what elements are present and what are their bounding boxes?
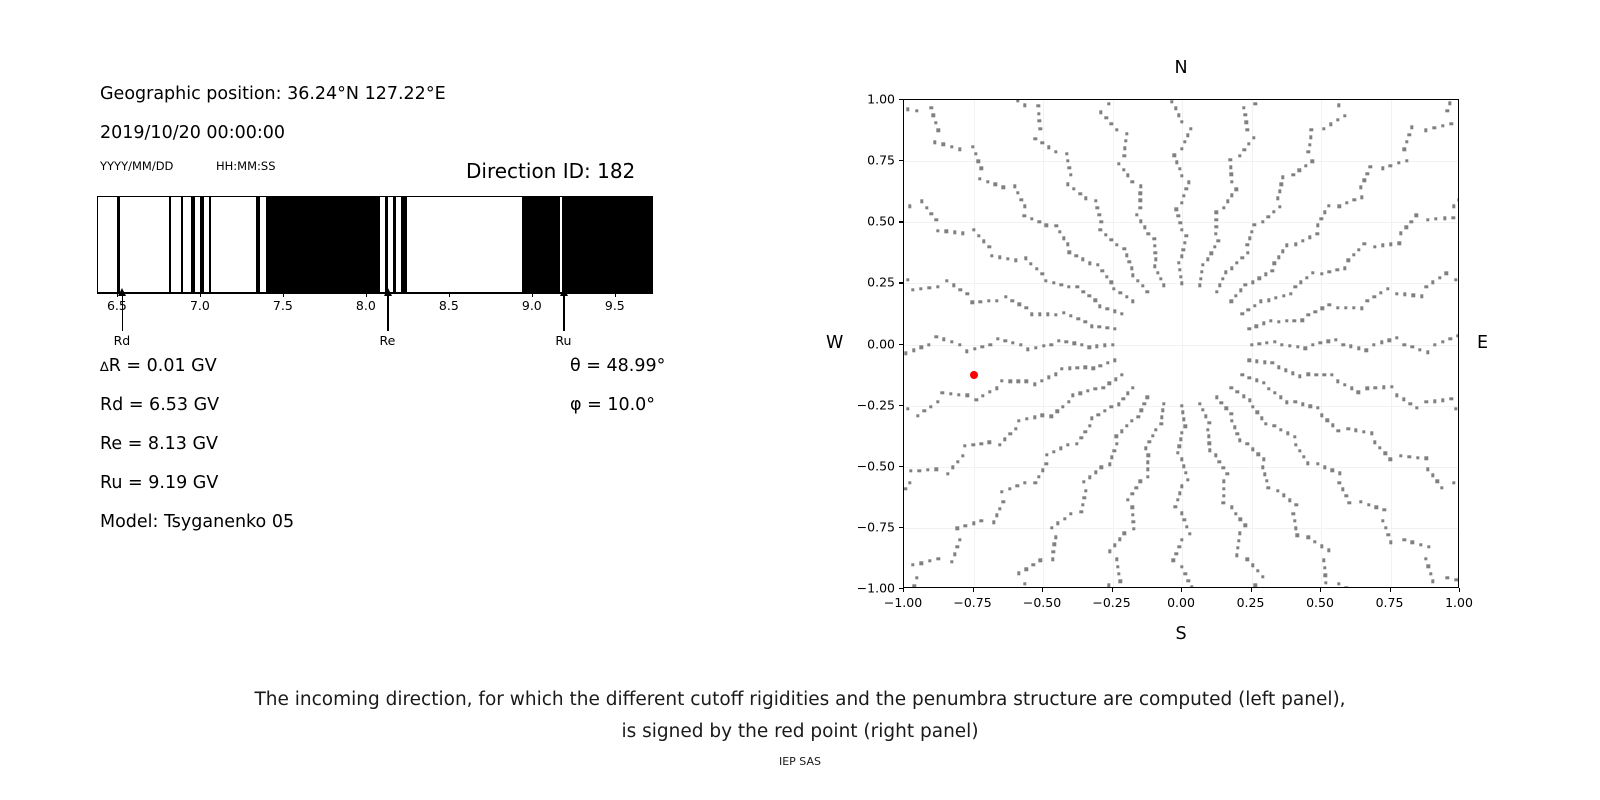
sky-direction-dot — [1298, 169, 1301, 172]
sky-direction-dot — [1209, 251, 1212, 254]
sky-direction-dot — [1046, 313, 1049, 316]
sky-direction-dot — [1033, 383, 1036, 386]
sky-direction-dot — [1246, 243, 1249, 246]
sky-direction-dot — [956, 460, 959, 463]
sky-direction-dot — [1053, 543, 1056, 546]
sky-direction-dot — [1397, 161, 1400, 164]
sky-direction-dot — [1298, 375, 1301, 378]
sky-direction-dot — [1110, 281, 1113, 284]
sky-direction-dot — [1131, 520, 1134, 523]
sky-direction-dot — [1208, 421, 1211, 424]
sky-direction-dot — [1314, 310, 1317, 313]
sky-direction-dot — [982, 239, 985, 242]
sky-direction-dot — [1153, 244, 1156, 247]
sky-direction-dot — [978, 177, 981, 180]
sky-direction-dot — [1240, 373, 1243, 376]
sky-direction-dot — [1271, 361, 1274, 364]
sky-direction-dot — [1030, 312, 1033, 315]
sky-direction-dot — [1433, 399, 1436, 402]
sky-direction-dot — [1016, 484, 1019, 487]
penumbra-axis-tick-label: 6.5 — [107, 298, 127, 313]
sky-direction-dot — [1310, 128, 1313, 131]
sky-direction-dot — [1131, 386, 1134, 389]
sky-direction-dot — [1252, 223, 1255, 226]
sky-direction-dot — [1142, 402, 1145, 405]
sky-direction-dot — [1016, 99, 1019, 102]
sky-direction-dot — [1370, 431, 1373, 434]
sky-direction-dot — [1218, 284, 1221, 287]
sky-direction-dot — [1411, 541, 1414, 544]
sky-direction-dot — [1299, 281, 1302, 284]
sky-direction-dot — [1399, 232, 1402, 235]
sky-direction-dot — [1065, 152, 1068, 155]
sky-direction-dot — [1162, 284, 1165, 287]
sky-direction-dot — [1304, 347, 1307, 350]
sky-direction-dot — [1065, 340, 1068, 343]
sky-direction-dot — [1175, 552, 1178, 555]
sky-direction-dot — [1094, 199, 1097, 202]
sky-direction-dot — [1267, 486, 1270, 489]
sky-direction-dot — [977, 159, 980, 162]
sky-direction-dot — [1052, 550, 1055, 553]
sky-direction-dot — [952, 284, 955, 287]
sky-direction-dot — [980, 442, 983, 445]
sky-direction-dot — [1450, 397, 1453, 400]
sky-direction-dot — [1311, 271, 1314, 274]
sky-direction-dot — [1315, 232, 1318, 235]
sky-direction-dot — [1426, 467, 1429, 470]
sky-direction-dot — [1025, 567, 1028, 570]
sky-direction-dot — [1110, 122, 1113, 125]
penumbra-forbidden-band — [209, 197, 211, 292]
sky-direction-dot — [1115, 435, 1118, 438]
sky-direction-dot — [1381, 166, 1384, 169]
sky-direction-dot — [1328, 270, 1331, 273]
sky-direction-dot — [1254, 102, 1257, 105]
sky-direction-dot — [1201, 263, 1204, 266]
sky-direction-dot — [1057, 339, 1060, 342]
sky-direction-dot — [1069, 512, 1072, 515]
sky-direction-dot — [1004, 339, 1007, 342]
sky-direction-dot — [1090, 325, 1093, 328]
sky-direction-dot — [936, 285, 939, 288]
cutoff-marker-label: Ru — [555, 333, 571, 348]
sky-direction-dot — [1058, 230, 1061, 233]
sky-direction-dot — [1343, 267, 1346, 270]
sky-direction-dot — [1295, 534, 1298, 537]
sky-direction-dot — [1113, 544, 1116, 547]
sky-direction-dot — [1346, 427, 1349, 430]
sky-direction-dot — [1277, 320, 1280, 323]
sky-direction-dot — [1389, 540, 1392, 543]
sky-direction-dot — [1389, 164, 1392, 167]
sky-direction-dot — [1062, 236, 1065, 239]
sky-direction-dot — [995, 514, 998, 517]
sky-direction-dot — [1387, 533, 1390, 536]
sky-direction-dot — [1342, 343, 1345, 346]
sky-direction-dot — [1119, 291, 1122, 294]
sky-direction-dot — [1206, 258, 1209, 261]
sky-direction-dot — [1280, 183, 1283, 186]
sky-direction-dot — [1262, 458, 1265, 461]
penumbra-forbidden-band — [191, 197, 195, 292]
arrow-up-icon — [118, 288, 126, 296]
sky-direction-dot — [1331, 424, 1334, 427]
sky-xaxis-tick-label: −0.50 — [1023, 595, 1061, 610]
sky-direction-dot — [1264, 273, 1267, 276]
sky-direction-dot — [1246, 251, 1249, 254]
sky-direction-dot — [1408, 455, 1411, 458]
sky-direction-dot — [1054, 150, 1057, 153]
sky-direction-dot — [1357, 390, 1360, 393]
result-model: Model: Tsyganenko 05 — [100, 512, 294, 532]
sky-direction-dot — [1041, 272, 1044, 275]
sky-yaxis-tick — [899, 466, 903, 467]
sky-direction-dot — [1001, 500, 1004, 503]
sky-direction-dot — [1282, 294, 1285, 297]
sky-direction-dot — [1408, 133, 1411, 136]
sky-direction-dot — [1179, 275, 1182, 278]
sky-yaxis-tick-label: 1.00 — [843, 92, 895, 107]
sky-direction-dot — [1136, 279, 1139, 282]
sky-direction-dot — [1186, 478, 1189, 481]
sky-direction-dot — [934, 121, 937, 124]
sky-direction-dot — [1127, 260, 1130, 263]
sky-direction-dot — [1221, 277, 1224, 280]
sky-direction-dot — [973, 347, 976, 350]
sky-direction-dot — [1131, 506, 1134, 509]
sky-direction-dot — [1055, 410, 1058, 413]
sky-direction-dot — [920, 346, 923, 349]
sky-direction-dot — [1110, 238, 1113, 241]
sky-direction-dot — [958, 147, 961, 150]
sky-direction-dot — [1120, 312, 1123, 315]
sky-direction-dot — [928, 559, 931, 562]
sky-direction-dot — [1222, 480, 1225, 483]
sky-direction-dot — [1113, 327, 1116, 330]
sky-direction-dot — [1291, 371, 1294, 374]
sky-direction-dot — [1084, 320, 1087, 323]
sky-direction-dot — [1146, 468, 1149, 471]
sky-xaxis-tick — [973, 588, 974, 592]
penumbra-forbidden-band — [169, 197, 171, 292]
sky-direction-dot — [1122, 168, 1125, 171]
sky-direction-dot — [1218, 460, 1221, 463]
result-rd: Rd = 6.53 GV — [100, 395, 219, 415]
left-panel: Geographic position: 36.24°N 127.22°E 20… — [0, 0, 780, 660]
sky-direction-dot — [1143, 226, 1146, 229]
sky-direction-dot — [1062, 311, 1065, 314]
sky-direction-dot — [1180, 255, 1183, 258]
sky-yaxis-tick — [899, 527, 903, 528]
sky-direction-dot — [1255, 324, 1258, 327]
sky-direction-dot — [1431, 281, 1434, 284]
sky-direction-dot — [932, 113, 935, 116]
sky-direction-dot — [965, 292, 968, 295]
sky-direction-dot — [1419, 543, 1422, 546]
sky-direction-dot — [1137, 415, 1140, 418]
sky-direction-dot — [1330, 469, 1333, 472]
sky-direction-dot — [1279, 396, 1282, 399]
sky-direction-dot — [1267, 387, 1270, 390]
sky-direction-dot — [1204, 415, 1207, 418]
sky-direction-dot — [1307, 313, 1310, 316]
sky-direction-dot — [1367, 503, 1370, 506]
sky-direction-dot — [1179, 221, 1182, 224]
sky-xaxis-tick-label: 0.25 — [1237, 595, 1265, 610]
penumbra-axis-tick-label: 7.5 — [273, 298, 293, 313]
sky-direction-dot — [1038, 119, 1041, 122]
sky-direction-dot — [980, 166, 983, 169]
sky-direction-dot — [1182, 194, 1185, 197]
sky-direction-dot — [1173, 154, 1176, 157]
sky-direction-dot — [1353, 198, 1356, 201]
sky-direction-dot — [1441, 398, 1444, 401]
sky-direction-dot — [1017, 572, 1020, 575]
sky-direction-dot — [1276, 197, 1279, 200]
sky-direction-dot — [1180, 485, 1183, 488]
sky-direction-dot — [1068, 367, 1071, 370]
sky-direction-dot — [1451, 216, 1454, 219]
sky-direction-dot — [1274, 296, 1277, 299]
sky-direction-dot — [1244, 283, 1247, 286]
penumbra-forbidden-band — [117, 197, 120, 292]
sky-direction-dot — [1086, 389, 1089, 392]
sky-direction-dot — [1108, 382, 1111, 385]
sky-direction-dot — [1261, 220, 1264, 223]
sky-direction-dot — [1323, 566, 1326, 569]
sky-direction-dot — [1131, 513, 1134, 516]
sky-direction-dot — [1326, 340, 1329, 343]
sky-direction-dot — [1243, 524, 1246, 527]
sky-direction-dot — [1293, 319, 1296, 322]
penumbra-axis-tick-label: 9.0 — [522, 298, 542, 313]
sky-direction-dot — [1050, 343, 1053, 346]
sky-direction-dot — [1153, 265, 1156, 268]
result-re: Re = 8.13 GV — [100, 434, 218, 454]
sky-direction-dot — [1248, 376, 1251, 379]
sky-direction-dot — [936, 229, 939, 232]
sky-direction-dot — [1126, 174, 1129, 177]
sky-direction-dot — [1449, 337, 1452, 340]
penumbra-axis-tick-label: 8.0 — [356, 298, 376, 313]
sky-direction-dot — [1314, 373, 1317, 376]
sky-direction-dot — [935, 218, 938, 221]
sky-direction-dot — [1215, 211, 1218, 214]
sky-direction-dot — [1183, 572, 1186, 575]
sky-direction-dot — [1243, 148, 1246, 151]
sky-direction-dot — [1189, 127, 1192, 130]
sky-direction-dot — [1178, 268, 1181, 271]
sky-direction-dot — [1177, 261, 1180, 264]
sky-direction-dot — [1105, 326, 1108, 329]
sky-direction-dot — [1111, 343, 1114, 346]
sky-direction-dot — [1088, 262, 1091, 265]
result-phi: φ = 10.0° — [570, 395, 655, 415]
sky-direction-dot — [937, 557, 940, 560]
sky-direction-dot — [977, 234, 980, 237]
sky-direction-dot — [1180, 174, 1183, 177]
sky-direction-dot — [1307, 150, 1310, 153]
sky-direction-dot — [1254, 584, 1257, 587]
sky-direction-dot — [918, 469, 921, 472]
sky-direction-dot — [1360, 196, 1363, 199]
sky-direction-dot — [1067, 285, 1070, 288]
sky-direction-dot — [1051, 558, 1054, 561]
sky-direction-dot — [1207, 435, 1210, 438]
sky-direction-dot — [965, 393, 968, 396]
sky-direction-dot — [1264, 422, 1267, 425]
sky-direction-dot — [919, 287, 922, 290]
sky-direction-dot — [988, 441, 991, 444]
sky-direction-dot — [1113, 449, 1116, 452]
delta-r-value: R = 0.01 GV — [109, 356, 217, 376]
sky-direction-dot — [1178, 444, 1181, 447]
sky-direction-dot — [1180, 282, 1183, 285]
sky-direction-dot — [1338, 204, 1341, 207]
sky-direction-dot — [1281, 250, 1284, 253]
sky-direction-dot — [1061, 405, 1064, 408]
sky-direction-dot — [1120, 373, 1123, 376]
sky-direction-dot — [1288, 344, 1291, 347]
sky-direction-dot — [1324, 581, 1327, 584]
sky-direction-dot — [1117, 162, 1120, 165]
sky-direction-dot — [1215, 218, 1218, 221]
sky-direction-dot — [1238, 532, 1241, 535]
sky-direction-dot — [1130, 492, 1133, 495]
penumbra-figure — [97, 196, 653, 293]
sky-direction-dot — [1426, 218, 1429, 221]
sky-yaxis-tick — [899, 221, 903, 222]
sky-direction-dot — [906, 278, 909, 281]
sky-direction-dot — [1233, 426, 1236, 429]
penumbra-axis-tick-label: 9.5 — [605, 298, 625, 313]
sky-direction-dot — [1079, 510, 1082, 513]
sky-direction-dot — [1023, 204, 1026, 207]
sky-direction-dot — [1146, 290, 1149, 293]
sky-direction-dot — [1372, 295, 1375, 298]
sky-xaxis-tick — [1112, 588, 1113, 592]
sky-direction-dot — [1278, 190, 1281, 193]
sky-direction-dot — [1214, 454, 1217, 457]
sky-direction-dot — [906, 107, 909, 110]
sky-direction-dot — [1382, 386, 1385, 389]
sky-direction-dot — [1245, 121, 1248, 124]
sky-xaxis-tick — [1042, 588, 1043, 592]
sky-direction-dot — [1284, 368, 1287, 371]
sky-direction-dot — [1019, 198, 1022, 201]
sky-direction-dot — [1068, 166, 1071, 169]
sky-direction-dot — [1412, 293, 1415, 296]
sky-direction-dot — [1180, 147, 1183, 150]
sky-direction-dot — [1023, 481, 1026, 484]
sky-direction-dot — [1038, 313, 1041, 316]
sky-direction-dot — [1098, 213, 1101, 216]
sky-direction-dot — [949, 392, 952, 395]
sky-direction-dot — [1291, 173, 1294, 176]
sky-direction-dot — [1090, 417, 1093, 420]
sky-direction-dot — [936, 400, 939, 403]
sky-direction-dot — [988, 343, 991, 346]
sky-direction-dot — [961, 232, 964, 235]
sky-direction-dot — [929, 405, 932, 408]
sky-direction-dot — [1402, 147, 1405, 150]
sky-direction-dot — [1360, 306, 1363, 309]
sky-direction-dot — [1301, 402, 1304, 405]
sky-direction-dot — [1097, 413, 1100, 416]
sky-direction-dot — [1454, 578, 1457, 581]
sky-direction-dot — [1319, 341, 1322, 344]
sky-direction-dot — [1025, 380, 1028, 383]
sky-direction-dot — [1436, 480, 1439, 483]
sky-direction-dot — [1052, 450, 1055, 453]
sky-direction-dot — [1185, 187, 1188, 190]
sky-direction-dot — [1088, 346, 1091, 349]
sky-direction-dot — [1200, 270, 1203, 273]
sky-direction-dot — [1293, 519, 1296, 522]
delta-symbol: ∆ — [100, 360, 109, 375]
sky-direction-dot — [1047, 376, 1050, 379]
sky-direction-dot — [1222, 466, 1225, 469]
sky-direction-dot — [1452, 205, 1455, 208]
sky-direction-dot — [1153, 237, 1156, 240]
sky-direction-dot — [1105, 116, 1108, 119]
sky-direction-dot — [1251, 564, 1254, 567]
sky-direction-dot — [1234, 512, 1237, 515]
sky-direction-dot — [1131, 180, 1134, 183]
sky-direction-dot — [1107, 102, 1110, 105]
sky-direction-dot — [941, 391, 944, 394]
sky-direction-dot — [1208, 449, 1211, 452]
sky-direction-dot — [1302, 455, 1305, 458]
penumbra-axis: 6.57.07.58.08.59.09.5RdReRu — [97, 293, 653, 353]
sky-direction-dot — [1438, 276, 1441, 279]
sky-direction-dot — [1213, 245, 1216, 248]
sky-direction-dot — [1072, 187, 1075, 190]
sky-direction-dot — [1234, 294, 1237, 297]
sky-direction-dot — [1441, 340, 1444, 343]
sky-direction-dot — [1045, 224, 1048, 227]
sky-direction-dot — [1239, 518, 1242, 521]
sky-direction-dot — [1037, 475, 1040, 478]
sky-direction-dot — [1230, 194, 1233, 197]
penumbra-forbidden-band — [266, 197, 380, 292]
sky-direction-dot — [1176, 498, 1179, 501]
sky-direction-dot — [1125, 295, 1128, 298]
sky-direction-dot — [1336, 380, 1339, 383]
sky-direction-dot — [1125, 254, 1128, 257]
sky-direction-dot — [1230, 267, 1233, 270]
sky-direction-dot — [1335, 268, 1338, 271]
sky-direction-dot — [951, 466, 954, 469]
sky-xaxis-tick-label: 0.75 — [1376, 595, 1404, 610]
sky-direction-dot — [1008, 379, 1011, 382]
sky-direction-dot — [971, 300, 974, 303]
sky-direction-dot — [1431, 580, 1434, 583]
sky-direction-dot — [1237, 539, 1240, 542]
sky-direction-dot — [1159, 277, 1162, 280]
sky-direction-dot — [1265, 479, 1268, 482]
sky-direction-dot — [1066, 182, 1069, 185]
sky-direction-dot — [923, 409, 926, 412]
sky-xaxis-tick — [1251, 588, 1252, 592]
sky-direction-dot — [1369, 165, 1372, 168]
arrow-shaft — [563, 295, 564, 331]
sky-direction-dot — [959, 288, 962, 291]
sky-direction-dot — [1293, 435, 1296, 438]
sky-direction-dot — [1054, 373, 1057, 376]
sky-direction-dot — [1379, 291, 1382, 294]
